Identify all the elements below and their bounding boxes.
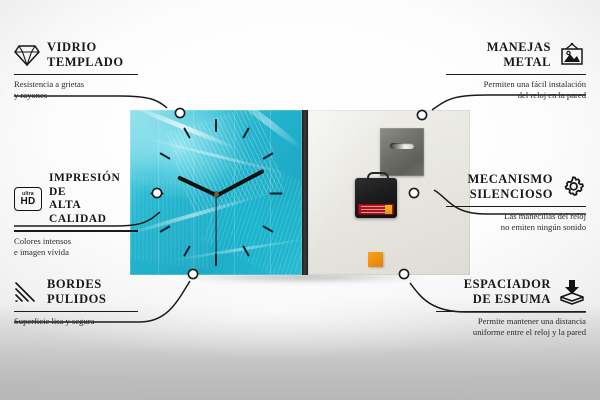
desc-line-1: Permite mantener una distancia bbox=[436, 316, 586, 328]
callout-rule bbox=[436, 311, 586, 312]
title-line-1: ESPACIADOR bbox=[436, 277, 551, 292]
clock-tick bbox=[215, 119, 217, 132]
callout-title: MANEJAS METAL bbox=[446, 40, 551, 70]
desc-line-2: del reloj en la pared bbox=[446, 90, 586, 102]
callout-mecanismo-silencioso[interactable]: MECANISMO SILENCIOSO Las manecillas del … bbox=[446, 172, 586, 234]
clock-pivot bbox=[214, 192, 219, 197]
callout-description: Las manecillas del reloj no emiten ningú… bbox=[446, 211, 586, 234]
hanger-slot bbox=[390, 143, 414, 149]
callout-rule bbox=[14, 230, 138, 231]
clock-tick bbox=[159, 152, 170, 160]
metal-hanger-plate bbox=[380, 128, 424, 176]
callout-header: ESPACIADOR DE ESPUMA bbox=[436, 277, 586, 307]
clock-front-panel bbox=[130, 110, 302, 275]
foam-spacer-arrow-icon bbox=[558, 279, 586, 305]
title-line-1: BORDES bbox=[47, 277, 106, 292]
callout-header: VIDRIO TEMPLADO bbox=[14, 40, 138, 70]
picture-frame-hanger-icon bbox=[558, 42, 586, 67]
desc-line-2: no emiten ningún sonido bbox=[446, 222, 586, 234]
gear-icon bbox=[560, 174, 586, 200]
callout-description: Permiten una fácil instalación del reloj… bbox=[446, 79, 586, 102]
title-line-2: PULIDOS bbox=[47, 292, 106, 307]
callout-rule bbox=[446, 74, 586, 75]
desc-line-1: Permiten una fácil instalación bbox=[446, 79, 586, 91]
callout-vidrio-templado[interactable]: VIDRIO TEMPLADO Resistencia a grietas y … bbox=[14, 40, 138, 102]
desc-line-1: Resistencia a grietas bbox=[14, 79, 138, 91]
desc-line-1: Superficie lisa y segura bbox=[14, 316, 138, 328]
foam-spacer bbox=[368, 252, 383, 267]
title-line-1: MECANISMO bbox=[446, 172, 553, 187]
battery-label bbox=[358, 204, 394, 215]
title-line-1: MANEJAS bbox=[446, 40, 551, 55]
callout-manejas-metal[interactable]: MANEJAS METAL Permiten una fácil instala… bbox=[446, 40, 586, 102]
callout-espaciador-espuma[interactable]: ESPACIADOR DE ESPUMA Permite mantener un… bbox=[436, 277, 586, 339]
callout-bordes-pulidos[interactable]: BORDES PULIDOS Superficie lisa y segura bbox=[14, 277, 138, 327]
ultra-hd-large-text: HD bbox=[20, 197, 35, 207]
desc-line-2: uniforme entre el reloj y la pared bbox=[436, 327, 586, 339]
infographic-canvas: VIDRIO TEMPLADO Resistencia a grietas y … bbox=[0, 0, 600, 400]
title-line-2: SILENCIOSO bbox=[446, 187, 553, 202]
callout-rule bbox=[14, 311, 138, 312]
clock-tick bbox=[270, 193, 283, 195]
polished-edges-icon bbox=[14, 281, 40, 303]
clock-second-hand bbox=[215, 195, 216, 253]
callout-rule bbox=[446, 206, 586, 207]
clock-tick bbox=[215, 253, 217, 266]
clock-mechanism-box bbox=[355, 178, 397, 218]
callout-title: IMPRESIÓN DE ALTA CALIDAD bbox=[49, 172, 138, 226]
title-line-2: METAL bbox=[446, 55, 551, 70]
callout-header: MECANISMO SILENCIOSO bbox=[446, 172, 586, 202]
callout-description: Permite mantener una distancia uniforme … bbox=[436, 316, 586, 339]
callout-description: Colores intensos e imagen vívida bbox=[14, 236, 138, 259]
callout-title: VIDRIO TEMPLADO bbox=[47, 40, 124, 70]
mechanism-loop bbox=[367, 172, 389, 183]
title-line-2: DE ESPUMA bbox=[436, 292, 551, 307]
desc-line-1: Las manecillas del reloj bbox=[446, 211, 586, 223]
desc-line-2: y rayones bbox=[14, 90, 138, 102]
callout-title: MECANISMO SILENCIOSO bbox=[446, 172, 553, 202]
clock-tick bbox=[151, 193, 164, 195]
callout-header: ultra HD IMPRESIÓN DE ALTA CALIDAD bbox=[14, 172, 138, 226]
desc-line-2: e imagen vívida bbox=[14, 247, 138, 259]
title-line-2: TEMPLADO bbox=[47, 55, 124, 70]
callout-description: Superficie lisa y segura bbox=[14, 316, 138, 328]
callout-header: MANEJAS METAL bbox=[446, 40, 586, 70]
diamond-icon bbox=[14, 43, 40, 67]
title-line-1: VIDRIO bbox=[47, 40, 124, 55]
battery-plus-terminal bbox=[385, 205, 392, 214]
callout-description: Resistencia a grietas y rayones bbox=[14, 79, 138, 102]
callout-impresion-alta-calidad[interactable]: ultra HD IMPRESIÓN DE ALTA CALIDAD Color… bbox=[14, 172, 138, 259]
callout-title: ESPACIADOR DE ESPUMA bbox=[436, 277, 551, 307]
ultra-hd-icon: ultra HD bbox=[14, 187, 42, 211]
callout-header: BORDES PULIDOS bbox=[14, 277, 138, 307]
product-image bbox=[130, 110, 470, 275]
callout-rule bbox=[14, 74, 138, 75]
title-line-2: ALTA CALIDAD bbox=[49, 199, 138, 226]
title-line-1: IMPRESIÓN DE bbox=[49, 172, 138, 199]
desc-line-1: Colores intensos bbox=[14, 236, 138, 248]
callout-title: BORDES PULIDOS bbox=[47, 277, 106, 307]
